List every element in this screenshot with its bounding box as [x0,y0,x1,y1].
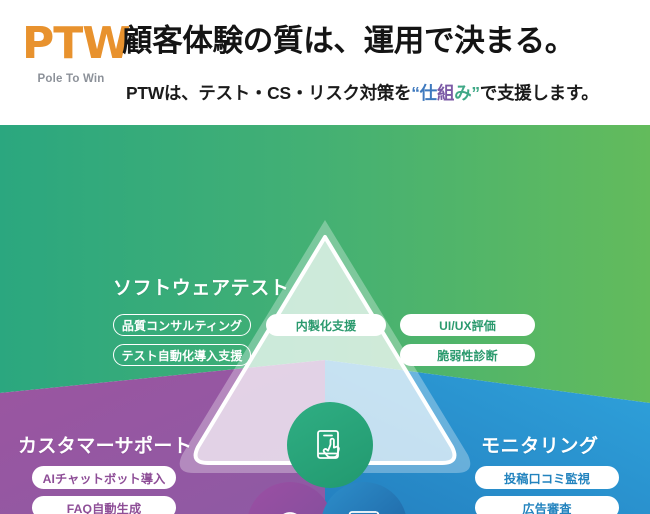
pill-insourcing-support[interactable]: 内製化支援 [266,314,386,336]
ptw-logo: PTW Pole To Win [22,22,120,85]
subheadline-prefix: PTWは、テスト・CS・リスク対策を [126,83,411,103]
subheadline-suffix: で支援します。 [480,83,599,103]
pill-ui-ux-evaluation[interactable]: UI/UX評価 [400,314,535,336]
pill-review-monitoring[interactable]: 投稿口コミ監視 [475,466,619,489]
pill-vulnerability-diagnosis[interactable]: 脆弱性診断 [400,344,535,366]
logo-wordmark: PTW [22,22,120,66]
pill-test-automation[interactable]: テスト自動化導入支援 [113,344,251,366]
monitor-waveform-search-icon [342,503,386,514]
section-title-software-test: ソフトウェアテスト [113,273,289,300]
logo-tagline: Pole To Win [22,73,120,85]
icon-circle-software-test[interactable] [287,402,373,488]
subheadline: PTWは、テスト・CS・リスク対策を“仕組み”で支援します。 [126,82,646,104]
pill-ai-chatbot[interactable]: AIチャットボット導入 [32,466,176,489]
headline: 顧客体験の質は、運用で決まる。 [122,24,642,58]
pill-quality-consulting[interactable]: 品質コンサルティング [113,314,251,336]
header: PTW Pole To Win 顧客体験の質は、運用で決まる。 PTWは、テスト… [0,0,650,125]
subheadline-keyword: 仕組み [420,83,472,103]
quote-close: ” [471,83,480,103]
diagram-canvas: ソフトウェアテスト カスタマーサポート モニタリング 品質コンサルティング テス… [0,125,650,514]
pill-ad-review[interactable]: 広告審査 [475,496,619,514]
ptw-service-overview-graphic: PTW Pole To Win 顧客体験の質は、運用で決まる。 PTWは、テスト… [0,0,650,514]
section-title-monitoring: モニタリング [481,431,599,458]
section-title-customer-support: カスタマーサポート [18,431,192,458]
headset-operator-icon [268,503,312,514]
quote-open: “ [411,83,420,103]
pill-faq-generation[interactable]: FAQ自動生成 [32,496,176,514]
tablet-touch-icon [309,424,351,466]
